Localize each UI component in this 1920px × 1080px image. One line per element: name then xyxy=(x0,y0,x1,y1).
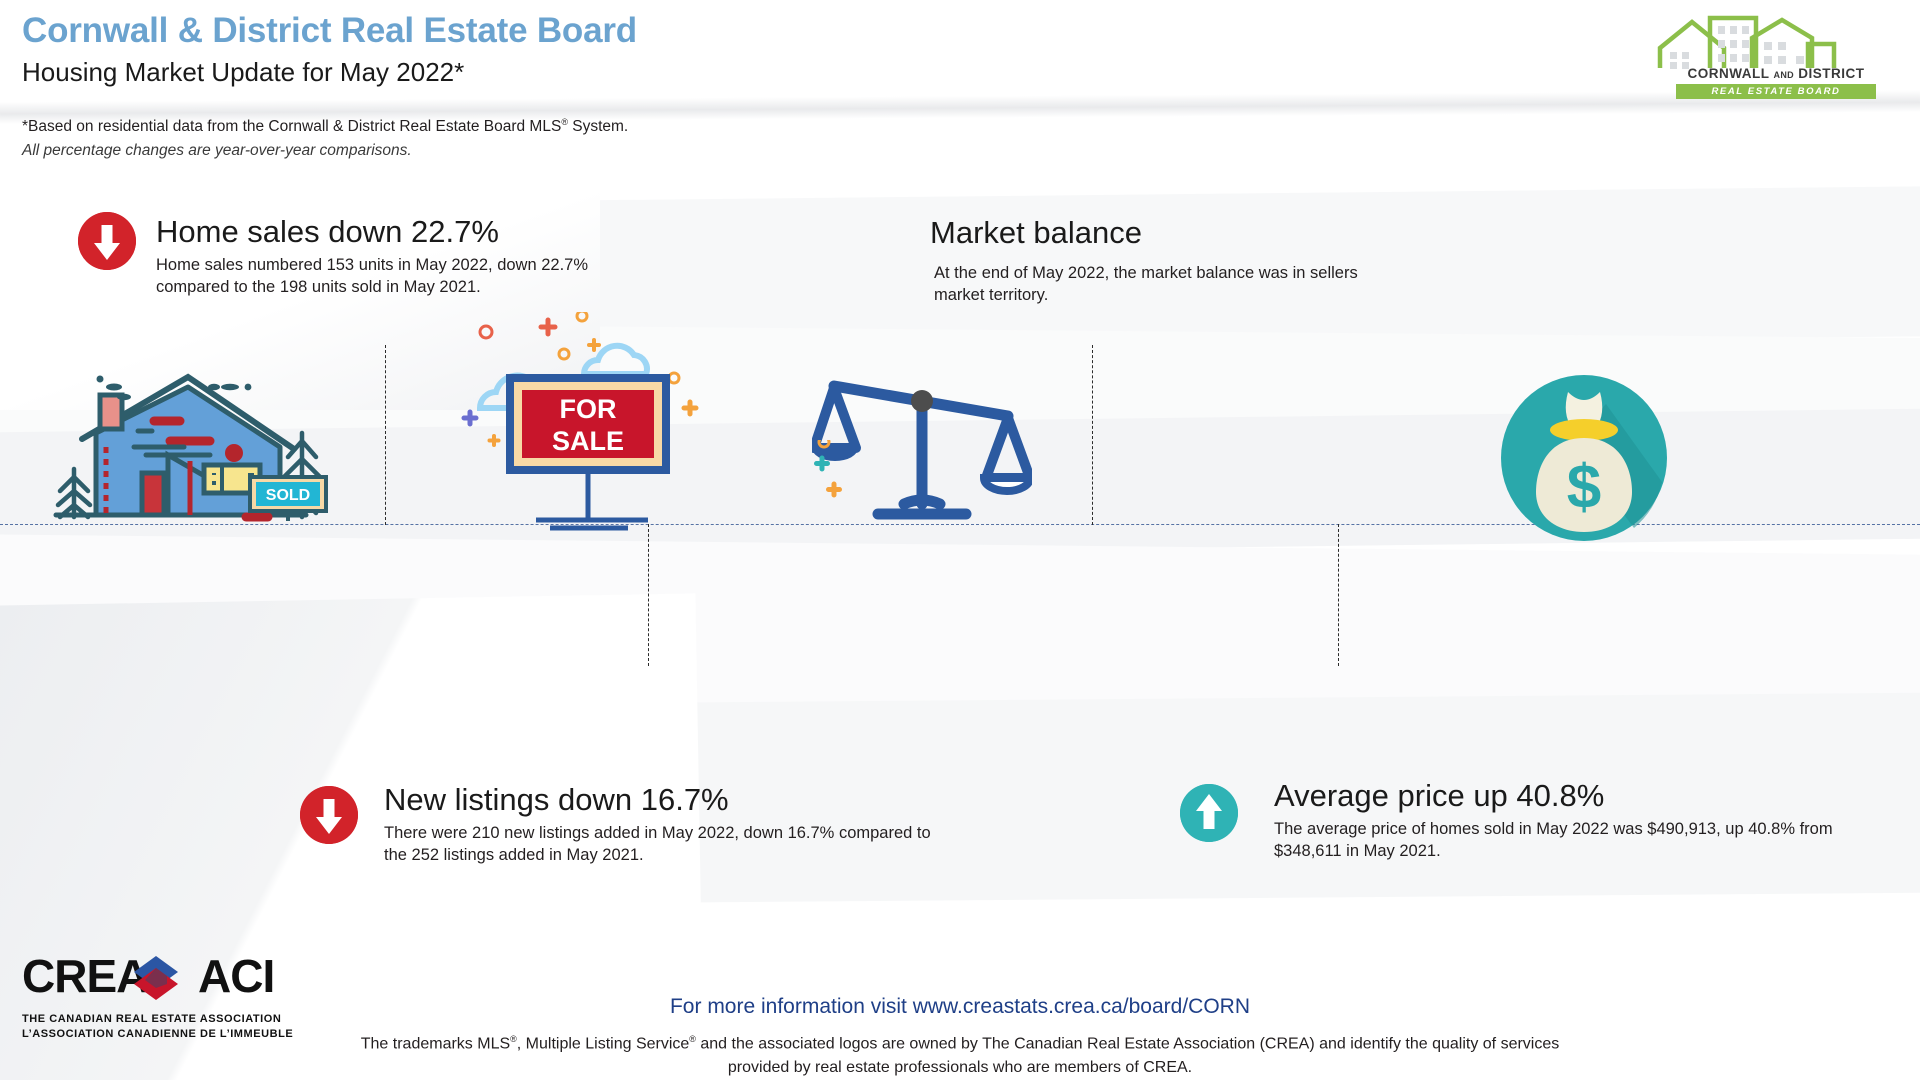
stat-body: At the end of May 2022, the market balan… xyxy=(934,262,1360,306)
trademark-notice: The trademarks MLS®, Multiple Listing Se… xyxy=(330,1027,1590,1080)
stat-headline: Home sales down 22.7% xyxy=(156,214,596,250)
timeline-tick xyxy=(1092,345,1093,525)
stat-body: There were 210 new listings added in May… xyxy=(384,822,944,866)
stat-body: Home sales numbered 153 units in May 202… xyxy=(156,254,596,298)
board-logo-houses-icon xyxy=(1652,14,1900,70)
creastats-link[interactable]: www.creastats.crea.ca/board/CORN xyxy=(913,995,1250,1018)
board-logo-name: CORNWALL AND DISTRICT xyxy=(1652,66,1900,81)
registered-mark: ® xyxy=(689,1034,696,1044)
sold-sign-label: SOLD xyxy=(266,487,310,504)
timeline-tick xyxy=(648,524,649,666)
dollar-symbol: $ xyxy=(1567,453,1601,522)
page-title: Cornwall & District Real Estate Board xyxy=(22,10,637,52)
stat-headline: Market balance xyxy=(930,215,1360,251)
money-bag-illustration: $ xyxy=(1496,370,1672,551)
for-sale-sign-illustration: FOR SALE xyxy=(452,312,702,537)
board-logo: CORNWALL AND DISTRICT REAL ESTATE BOARD xyxy=(1652,14,1900,100)
timeline-tick xyxy=(1338,524,1339,666)
arrow-down-circle-icon xyxy=(300,786,358,844)
data-source-disclaimer: *Based on residential data from the Corn… xyxy=(22,110,628,163)
more-information-prefix: For more information visit xyxy=(670,995,913,1018)
page-header: Cornwall & District Real Estate Board Ho… xyxy=(22,10,637,88)
infographic-canvas: Cornwall & District Real Estate Board Ho… xyxy=(0,0,1920,1080)
registered-mark: ® xyxy=(561,117,568,127)
for-sale-line-2: SALE xyxy=(552,426,624,456)
more-information-line: For more information visit www.creastats… xyxy=(0,995,1920,1019)
disclaimer-line-1: *Based on residential data from the Corn… xyxy=(22,110,628,139)
stat-headline: Average price up 40.8% xyxy=(1274,778,1874,814)
stat-body: The average price of homes sold in May 2… xyxy=(1274,818,1874,862)
arrow-down-circle-icon xyxy=(78,212,136,270)
board-logo-tagline-bar: REAL ESTATE BOARD xyxy=(1676,84,1876,99)
arrow-up-circle-icon xyxy=(1180,784,1238,842)
board-logo-tagline: REAL ESTATE BOARD xyxy=(1676,84,1876,99)
sold-house-illustration: SOLD xyxy=(38,365,338,530)
for-sale-line-1: FOR xyxy=(560,394,617,424)
stat-headline: New listings down 16.7% xyxy=(384,782,944,818)
crea-logo-diamond-icon xyxy=(134,956,178,1000)
scale-sparkles xyxy=(808,440,868,515)
registered-mark: ® xyxy=(510,1034,517,1044)
timeline-tick xyxy=(385,345,386,525)
page-subtitle: Housing Market Update for May 2022* xyxy=(22,56,637,88)
disclaimer-line-2: All percentage changes are year-over-yea… xyxy=(22,139,628,163)
